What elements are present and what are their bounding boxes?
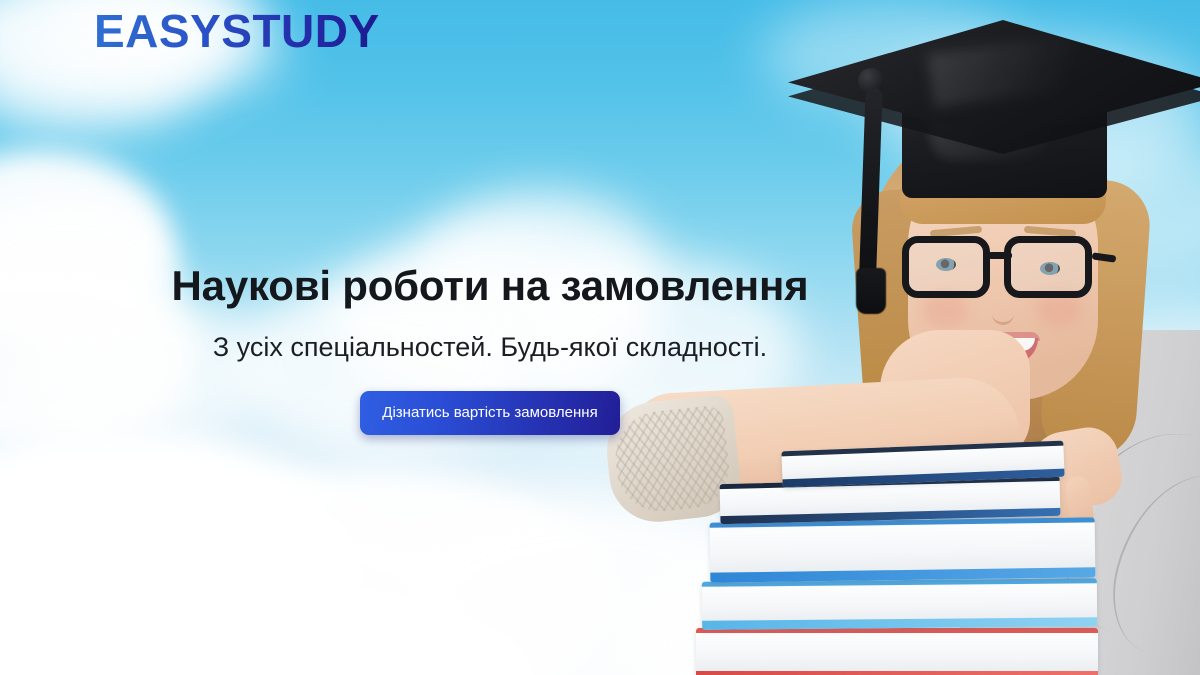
- book-spine: [696, 671, 1098, 675]
- book-stack: [710, 440, 1150, 675]
- site-logo[interactable]: EASYSTUDY: [94, 8, 380, 54]
- lens-right: [1004, 236, 1092, 298]
- hero-copy: Наукові роботи на замовлення З усіх спец…: [0, 262, 980, 435]
- hero-headline: Наукові роботи на замовлення: [0, 262, 980, 309]
- book: [696, 628, 1098, 675]
- book: [710, 517, 1096, 582]
- hero-subheadline: З усіх спеціальностей. Будь-якої складно…: [0, 331, 980, 363]
- book-pages: [696, 628, 1098, 675]
- book: [702, 578, 1097, 629]
- cta-container: Дізнатись вартість замовлення: [0, 391, 980, 435]
- hero-banner: EASYSTUDY Наукові роботи на замовлення З…: [0, 0, 1200, 675]
- get-price-button[interactable]: Дізнатись вартість замовлення: [360, 391, 619, 435]
- glasses-bridge: [988, 252, 1012, 259]
